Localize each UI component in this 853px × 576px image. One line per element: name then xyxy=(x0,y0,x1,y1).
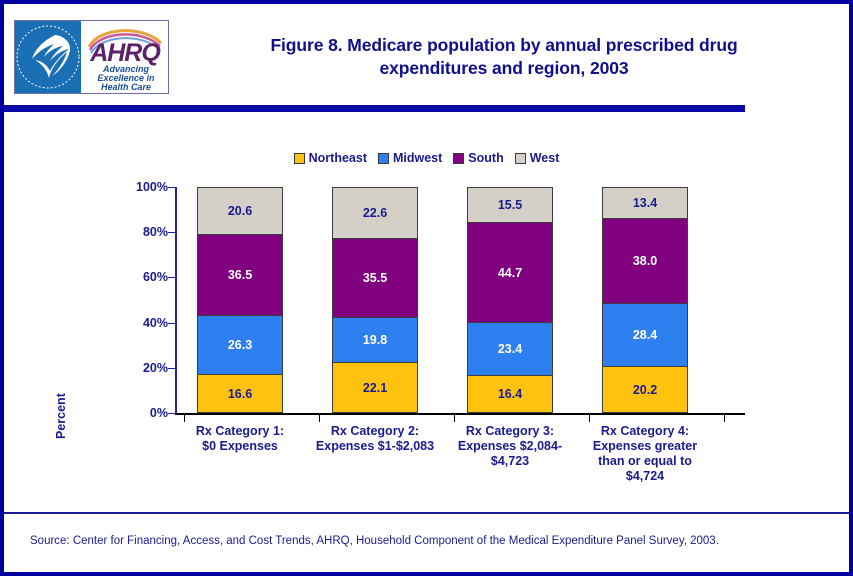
x-axis-category-line: Rx Category 3: xyxy=(435,424,585,439)
bar-segment-west[interactable]: 20.6 xyxy=(197,187,283,234)
x-axis-tickmark xyxy=(319,415,320,422)
bar-value-label: 22.6 xyxy=(363,206,387,220)
x-axis-category-label: Rx Category 2:Expenses $1-$2,083 xyxy=(300,424,450,454)
legend-item-northeast: Northeast xyxy=(294,151,367,165)
x-axis-category-line: Expenses $1-$2,083 xyxy=(300,439,450,454)
y-axis-label: Percent xyxy=(54,419,68,439)
legend-swatch-icon xyxy=(294,153,305,164)
bar-segment-northeast[interactable]: 22.1 xyxy=(332,362,418,413)
bar-value-label: 16.4 xyxy=(498,387,522,401)
footer-divider xyxy=(4,512,849,514)
y-axis-tickmark xyxy=(168,368,175,369)
svg-text:AHRQ: AHRQ xyxy=(89,39,161,67)
bar-value-label: 23.4 xyxy=(498,342,522,356)
bar-value-label: 19.8 xyxy=(363,333,387,347)
bar-segment-midwest[interactable]: 19.8 xyxy=(332,317,418,362)
svg-text:Health Care: Health Care xyxy=(101,82,151,92)
bar-column[interactable]: 15.544.723.416.4 xyxy=(467,187,553,413)
figure-header: AHRQ Advancing Excellence in Health Care… xyxy=(4,4,849,100)
bar-value-label: 22.1 xyxy=(363,381,387,395)
bar-column[interactable]: 20.636.526.316.6 xyxy=(197,187,283,413)
x-axis-line xyxy=(175,413,745,415)
bar-segment-west[interactable]: 15.5 xyxy=(467,187,553,222)
bar-value-label: 13.4 xyxy=(633,196,657,210)
x-axis-category-line: $4,723 xyxy=(435,454,585,469)
bar-segment-south[interactable]: 44.7 xyxy=(467,222,553,322)
bar-segment-midwest[interactable]: 26.3 xyxy=(197,315,283,374)
x-axis-category-line: Expenses greater xyxy=(570,439,720,454)
source-note: Source: Center for Financing, Access, an… xyxy=(30,535,719,547)
bar-segment-south[interactable]: 35.5 xyxy=(332,238,418,317)
bar-segment-northeast[interactable]: 20.2 xyxy=(602,366,688,413)
y-axis-tick-label: 100% xyxy=(116,181,168,193)
x-axis-category-line: Rx Category 2: xyxy=(300,424,450,439)
header-divider xyxy=(4,105,745,112)
bar-value-label: 20.2 xyxy=(633,383,657,397)
legend-item-south: South xyxy=(453,151,503,165)
chart-plot-area: Percent 0%20%40%60%80%100% 20.636.526.31… xyxy=(4,174,849,514)
y-axis-tick-label: 60% xyxy=(116,271,168,283)
figure-title: Figure 8. Medicare population by annual … xyxy=(179,34,829,80)
x-axis-tickmark xyxy=(184,415,185,422)
x-axis-category-line: Expenses $2,084- xyxy=(435,439,585,454)
legend-label: Northeast xyxy=(309,151,367,165)
bar-value-label: 28.4 xyxy=(633,328,657,342)
legend-label: West xyxy=(530,151,560,165)
figure-title-line-2: expenditures and region, 2003 xyxy=(179,57,829,80)
bar-value-label: 26.3 xyxy=(228,338,252,352)
chart-legend: NortheastMidwestSouthWest xyxy=(4,151,849,165)
x-axis-category-label: Rx Category 1:$0 Expenses xyxy=(165,424,315,454)
y-axis-tickmark xyxy=(168,277,175,278)
bar-segment-west[interactable]: 22.6 xyxy=(332,187,418,238)
legend-swatch-icon xyxy=(378,153,389,164)
y-axis-tick-label: 0% xyxy=(116,407,168,419)
legend-item-midwest: Midwest xyxy=(378,151,442,165)
x-axis-tickmark xyxy=(589,415,590,422)
bar-value-label: 38.0 xyxy=(633,254,657,268)
y-axis-tick-label: 20% xyxy=(116,362,168,374)
legend-label: Midwest xyxy=(393,151,442,165)
bar-value-label: 16.6 xyxy=(228,387,252,401)
x-axis-category-line: $0 Expenses xyxy=(165,439,315,454)
x-axis-category-line: than or equal to xyxy=(570,454,720,469)
y-axis-tick-label: 80% xyxy=(116,226,168,238)
bar-segment-midwest[interactable]: 28.4 xyxy=(602,303,688,367)
y-axis-tickmark xyxy=(168,187,175,188)
x-axis-category-line: $4,724 xyxy=(570,469,720,484)
bar-value-label: 15.5 xyxy=(498,198,522,212)
figure-page: AHRQ Advancing Excellence in Health Care… xyxy=(0,0,853,576)
stacked-bars: 20.636.526.316.622.635.519.822.115.544.7… xyxy=(175,187,745,413)
y-axis-tickmark xyxy=(168,232,175,233)
bar-segment-south[interactable]: 38.0 xyxy=(602,218,688,303)
legend-swatch-icon xyxy=(515,153,526,164)
y-axis-ticks: 0%20%40%60%80%100% xyxy=(108,174,168,400)
bar-segment-south[interactable]: 36.5 xyxy=(197,234,283,316)
x-axis-category-label: Rx Category 3:Expenses $2,084-$4,723 xyxy=(435,424,585,469)
bar-value-label: 35.5 xyxy=(363,271,387,285)
legend-item-west: West xyxy=(515,151,560,165)
bar-segment-northeast[interactable]: 16.6 xyxy=(197,374,283,413)
legend-swatch-icon xyxy=(453,153,464,164)
y-axis-tickmark xyxy=(168,413,175,414)
x-axis-category-line: Rx Category 1: xyxy=(165,424,315,439)
legend-label: South xyxy=(468,151,503,165)
figure-title-line-1: Figure 8. Medicare population by annual … xyxy=(179,34,829,57)
ahrq-logo: AHRQ Advancing Excellence in Health Care xyxy=(14,20,169,94)
y-axis-tick-label: 40% xyxy=(116,317,168,329)
ahrq-wordmark: AHRQ Advancing Excellence in Health Care xyxy=(81,21,168,93)
hhs-seal-icon xyxy=(15,21,81,93)
x-axis-category-line: Rx Category 4: xyxy=(570,424,720,439)
bar-column[interactable]: 22.635.519.822.1 xyxy=(332,187,418,413)
x-axis-category-label: Rx Category 4:Expenses greaterthan or eq… xyxy=(570,424,720,484)
y-axis-tickmark xyxy=(168,323,175,324)
bar-segment-northeast[interactable]: 16.4 xyxy=(467,375,553,413)
x-axis-tickmark xyxy=(454,415,455,422)
bar-segment-west[interactable]: 13.4 xyxy=(602,187,688,218)
bar-value-label: 36.5 xyxy=(228,268,252,282)
bar-column[interactable]: 13.438.028.420.2 xyxy=(602,187,688,413)
bar-value-label: 44.7 xyxy=(498,266,522,280)
x-axis-tickmark xyxy=(724,415,725,422)
bar-segment-midwest[interactable]: 23.4 xyxy=(467,322,553,375)
bar-value-label: 20.6 xyxy=(228,204,252,218)
